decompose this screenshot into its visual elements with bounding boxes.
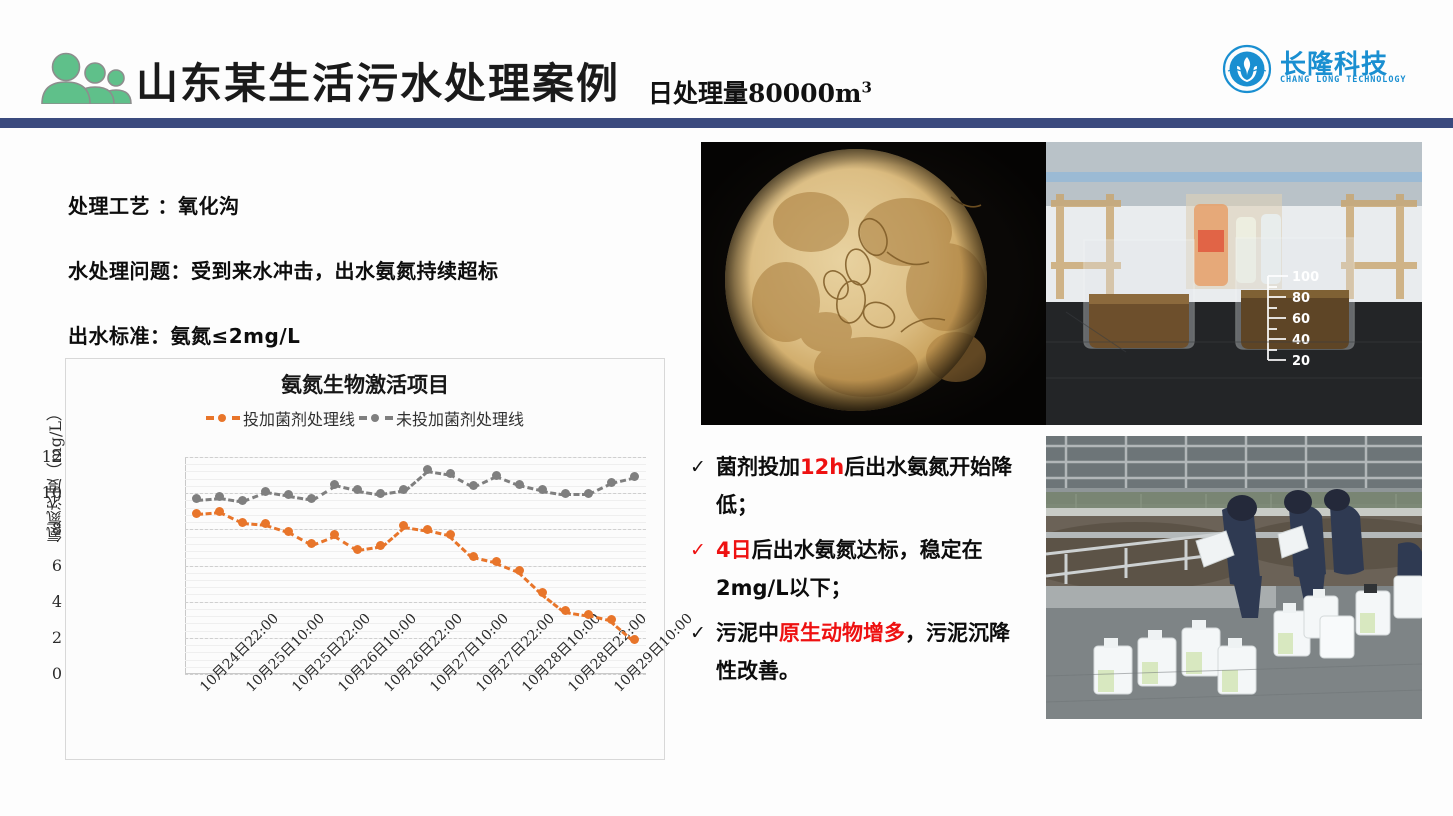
bullet-span: 污泥中	[716, 621, 779, 645]
legend-item-undosed: 未投加菌剂处理线	[359, 406, 524, 430]
microscope-sludge-photo	[701, 142, 1046, 425]
bullet-text: 污泥中原生动物增多，污泥沉降性改善。	[716, 614, 1030, 690]
chart-gridline-minor	[185, 537, 646, 538]
chart-data-point	[446, 530, 455, 539]
legend-label-dosed: 投加菌剂处理线	[243, 406, 355, 430]
header-subtitle-text: 日处理量80000m	[648, 79, 861, 108]
chart-gridline-minor	[185, 544, 646, 545]
slide-root: 山东某生活污水处理案例 日处理量80000m3 长隆科技 CHANG LONG …	[0, 0, 1453, 816]
check-icon: ✓	[690, 448, 716, 486]
header-subtitle-superscript: 3	[861, 79, 871, 97]
logo-emblem-icon	[1222, 44, 1272, 94]
check-icon: ✓	[690, 531, 716, 569]
svg-text:100: 100	[1292, 270, 1319, 285]
chart-data-point	[261, 487, 270, 496]
bullet-highlight: 原生动物增多	[779, 621, 905, 645]
chart-gridline-minor	[185, 471, 646, 472]
bullet-item: ✓ 污泥中原生动物增多，污泥沉降性改善。	[690, 614, 1030, 690]
header-subtitle: 日处理量80000m3	[648, 74, 872, 110]
chart-gridline-major	[185, 602, 646, 603]
chart-gridline-minor	[185, 594, 646, 595]
chart-data-point	[469, 552, 478, 561]
chart-data-point	[561, 606, 570, 615]
bullet-item: ✓ 4日后出水氨氮达标，稳定在2mg/L以下；	[690, 531, 1030, 607]
chart-gridline-minor	[185, 558, 646, 559]
bullet-span: 菌剂投加	[716, 455, 800, 479]
bullet-span: 后出水氨氮达标，稳定在2mg/L以下；	[716, 538, 983, 600]
chart-data-point	[584, 610, 593, 619]
chart-data-point	[423, 465, 432, 474]
chart-y-tick: 10	[22, 483, 62, 502]
fact-process: 处理工艺 ：氧化沟	[68, 190, 668, 219]
bullet-highlight: 12h	[800, 455, 844, 479]
chart-data-point	[238, 518, 247, 527]
company-logo: 长隆科技 CHANG LONG TECHNOLOGY	[1222, 42, 1418, 96]
chart-data-point	[538, 588, 547, 597]
chart-gridline-minor	[185, 486, 646, 487]
chart-plot-area: 02468101210月24日22:0010月25日10:0010月25日22:…	[185, 457, 646, 674]
chart-y-tick: 8	[22, 519, 62, 538]
legend-item-dosed: 投加菌剂处理线	[206, 406, 355, 430]
chart-data-point	[238, 496, 247, 505]
bullet-highlight: 4日	[716, 538, 752, 562]
chart-gridline-minor	[185, 587, 646, 588]
chart-gridline-minor	[185, 508, 646, 509]
chart-y-tick: 2	[22, 628, 62, 647]
fact-standard: 出水标准：氨氮≤2mg/L	[68, 320, 668, 349]
chart-data-point	[561, 489, 570, 498]
bullet-text: 菌剂投加12h后出水氨氮开始降低；	[716, 448, 1030, 524]
chart-y-tick: 6	[22, 556, 62, 575]
chart-gridline-minor	[185, 515, 646, 516]
chart-gridline-major	[185, 566, 646, 567]
chart-data-point	[515, 480, 524, 489]
legend-swatch-dosed-icon	[206, 413, 240, 423]
chart-gridline-minor	[185, 573, 646, 574]
chart-y-tick: 4	[22, 592, 62, 611]
chart-gridline-minor	[185, 500, 646, 501]
fact-problem: 水处理问题：受到来水冲击，出水氨氮持续超标	[68, 255, 668, 284]
chart-data-point	[215, 507, 224, 516]
svg-text:60: 60	[1292, 312, 1310, 327]
svg-text:40: 40	[1292, 333, 1310, 348]
chart-data-point	[423, 525, 432, 534]
chart-data-point	[607, 478, 616, 487]
chart-data-point	[192, 509, 201, 518]
chart-y-tick: 0	[22, 664, 62, 683]
bullet-text: 4日后出水氨氮达标，稳定在2mg/L以下；	[716, 531, 1030, 607]
ammonia-chart: 氨氮生物激活项目 投加菌剂处理线 未投加菌剂处理线 氨氮浓度（mg/L） 024…	[65, 358, 665, 760]
page-title: 山东某生活污水处理案例	[136, 50, 620, 111]
svg-text:20: 20	[1292, 354, 1310, 369]
chart-y-tick: 12	[22, 447, 62, 466]
chart-data-point	[446, 469, 455, 478]
chart-data-point	[284, 527, 293, 536]
chart-data-point	[538, 485, 547, 494]
legend-swatch-undosed-icon	[359, 413, 393, 423]
chart-data-point	[330, 480, 339, 489]
check-icon: ✓	[690, 614, 716, 652]
legend-label-undosed: 未投加菌剂处理线	[396, 406, 524, 430]
chart-gridline-minor	[185, 609, 646, 610]
logo-english-name: CHANG LONG TECHNOLOGY	[1280, 75, 1406, 85]
people-group-icon	[38, 52, 138, 104]
chart-data-point	[584, 489, 593, 498]
slide-header: 山东某生活污水处理案例 日处理量80000m3 长隆科技 CHANG LONG …	[0, 0, 1453, 120]
chart-gridline-minor	[185, 551, 646, 552]
header-divider	[0, 118, 1453, 128]
conclusion-bullets: ✓ 菌剂投加12h后出水氨氮开始降低； ✓ 4日后出水氨氮达标，稳定在2mg/L…	[690, 448, 1030, 697]
chart-legend: 投加菌剂处理线 未投加菌剂处理线	[66, 406, 664, 430]
beakers-sludge-photo: 10080 604020	[1046, 142, 1422, 425]
chart-data-point	[492, 471, 501, 480]
chart-title: 氨氮生物激活项目	[66, 369, 664, 399]
chart-gridline-minor	[185, 464, 646, 465]
dosing-operation-photo	[1046, 436, 1422, 719]
bullet-item: ✓ 菌剂投加12h后出水氨氮开始降低；	[690, 448, 1030, 524]
facts-list: 处理工艺 ：氧化沟 水处理问题：受到来水冲击，出水氨氮持续超标 出水标准：氨氮≤…	[68, 190, 668, 385]
chart-gridline-major	[185, 457, 646, 458]
chart-gridline-minor	[185, 580, 646, 581]
svg-text:80: 80	[1292, 291, 1310, 306]
